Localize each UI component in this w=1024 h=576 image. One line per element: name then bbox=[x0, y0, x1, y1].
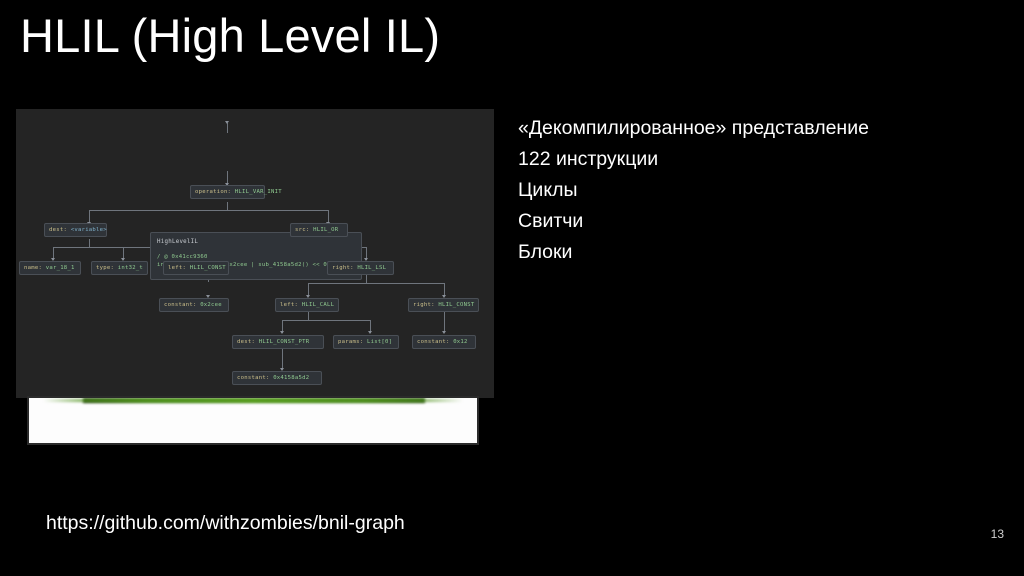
edge bbox=[366, 275, 367, 283]
node-value: HLIL_CALL bbox=[302, 302, 335, 308]
edge bbox=[282, 348, 283, 368]
node-key: right: bbox=[413, 302, 438, 308]
footer-url[interactable]: https://github.com/withzombies/bnil-grap… bbox=[46, 512, 405, 535]
left-const-node[interactable]: left: HLIL_CONST bbox=[163, 261, 229, 275]
node-value: HLIL_OR bbox=[313, 227, 338, 233]
node-value: <variable> bbox=[71, 227, 107, 233]
list-item: Блоки bbox=[518, 237, 998, 268]
node-key: right: bbox=[332, 265, 357, 271]
edge bbox=[308, 312, 309, 320]
node-value: var_18_1 bbox=[46, 265, 75, 271]
node-key: dest: bbox=[49, 227, 71, 233]
node-key: constant: bbox=[164, 302, 200, 308]
node-key: type: bbox=[96, 265, 118, 271]
edge-arrow-icon bbox=[368, 331, 372, 334]
edge bbox=[89, 239, 90, 247]
list-item: Циклы bbox=[518, 175, 998, 206]
node-key: name: bbox=[24, 265, 46, 271]
list-item: «Декомпилированное» представление bbox=[518, 113, 998, 144]
node-value: HLIL_CONST_PTR bbox=[259, 339, 310, 345]
green-accent-bar-highlight bbox=[43, 399, 463, 402]
node-value: HLIL_CONST bbox=[438, 302, 474, 308]
name-node[interactable]: name: var_18_1 bbox=[19, 261, 81, 275]
node-key: constant: bbox=[417, 339, 453, 345]
root-node-comment: / @ 0x41cc9360 bbox=[157, 253, 355, 261]
screenshot-lower-panel bbox=[27, 396, 479, 445]
edge-arrow-icon bbox=[442, 331, 446, 334]
bnil-graph-screenshot: HighLevelIL / @ 0x41cc9360 int32_t var_1… bbox=[16, 109, 494, 445]
node-key: left: bbox=[168, 265, 190, 271]
constant-4158a5d2-node[interactable]: constant: 0x4158a5d2 bbox=[232, 371, 322, 385]
edge bbox=[227, 123, 228, 133]
node-value: 0x4158a5d2 bbox=[273, 375, 309, 381]
edge bbox=[282, 320, 370, 321]
node-key: src: bbox=[295, 227, 313, 233]
node-value: 0x2cee bbox=[200, 302, 222, 308]
edge bbox=[444, 312, 445, 331]
node-value: 0x12 bbox=[453, 339, 467, 345]
params-node[interactable]: params: List[0] bbox=[333, 335, 399, 349]
edge bbox=[308, 283, 444, 284]
node-key: operation: bbox=[195, 189, 235, 195]
node-key: params: bbox=[338, 339, 367, 345]
list-item: 122 инструкции bbox=[518, 144, 998, 175]
node-value: HLIL_VAR_INIT bbox=[235, 189, 282, 195]
edge bbox=[227, 202, 228, 210]
node-value: List[0] bbox=[367, 339, 392, 345]
white-content-area bbox=[29, 398, 477, 443]
src-node[interactable]: src: HLIL_OR bbox=[290, 223, 348, 237]
constant-12-node[interactable]: constant: 0x12 bbox=[412, 335, 476, 349]
node-key: constant: bbox=[237, 375, 273, 381]
node-key: left: bbox=[280, 302, 302, 308]
bullet-list: «Декомпилированное» представление 122 ин… bbox=[518, 113, 998, 268]
node-value: HLIL_LSL bbox=[357, 265, 386, 271]
page-title: HLIL (High Level IL) bbox=[20, 8, 440, 63]
list-item: Свитчи bbox=[518, 206, 998, 237]
node-value: HLIL_CONST bbox=[190, 265, 226, 271]
edge bbox=[89, 210, 328, 211]
edge-arrow-icon bbox=[225, 121, 229, 124]
page-number: 13 bbox=[991, 527, 1004, 541]
left-call-node[interactable]: left: HLIL_CALL bbox=[275, 298, 339, 312]
constant-2cee-node[interactable]: constant: 0x2cee bbox=[159, 298, 229, 312]
edge-arrow-icon bbox=[280, 331, 284, 334]
node-value: int32_t bbox=[118, 265, 143, 271]
dest-node[interactable]: dest: <variable> bbox=[44, 223, 107, 237]
root-node-title: HighLevelIL bbox=[157, 238, 355, 246]
graph-canvas: HighLevelIL / @ 0x41cc9360 int32_t var_1… bbox=[16, 109, 494, 398]
right-lsl-node[interactable]: right: HLIL_LSL bbox=[327, 261, 394, 275]
type-node[interactable]: type: int32_t bbox=[91, 261, 148, 275]
dest-constptr-node[interactable]: dest: HLIL_CONST_PTR bbox=[232, 335, 324, 349]
operation-node[interactable]: operation: HLIL_VAR_INIT bbox=[190, 185, 265, 199]
node-key: dest: bbox=[237, 339, 259, 345]
right-const-node[interactable]: right: HLIL_CONST bbox=[408, 298, 479, 312]
